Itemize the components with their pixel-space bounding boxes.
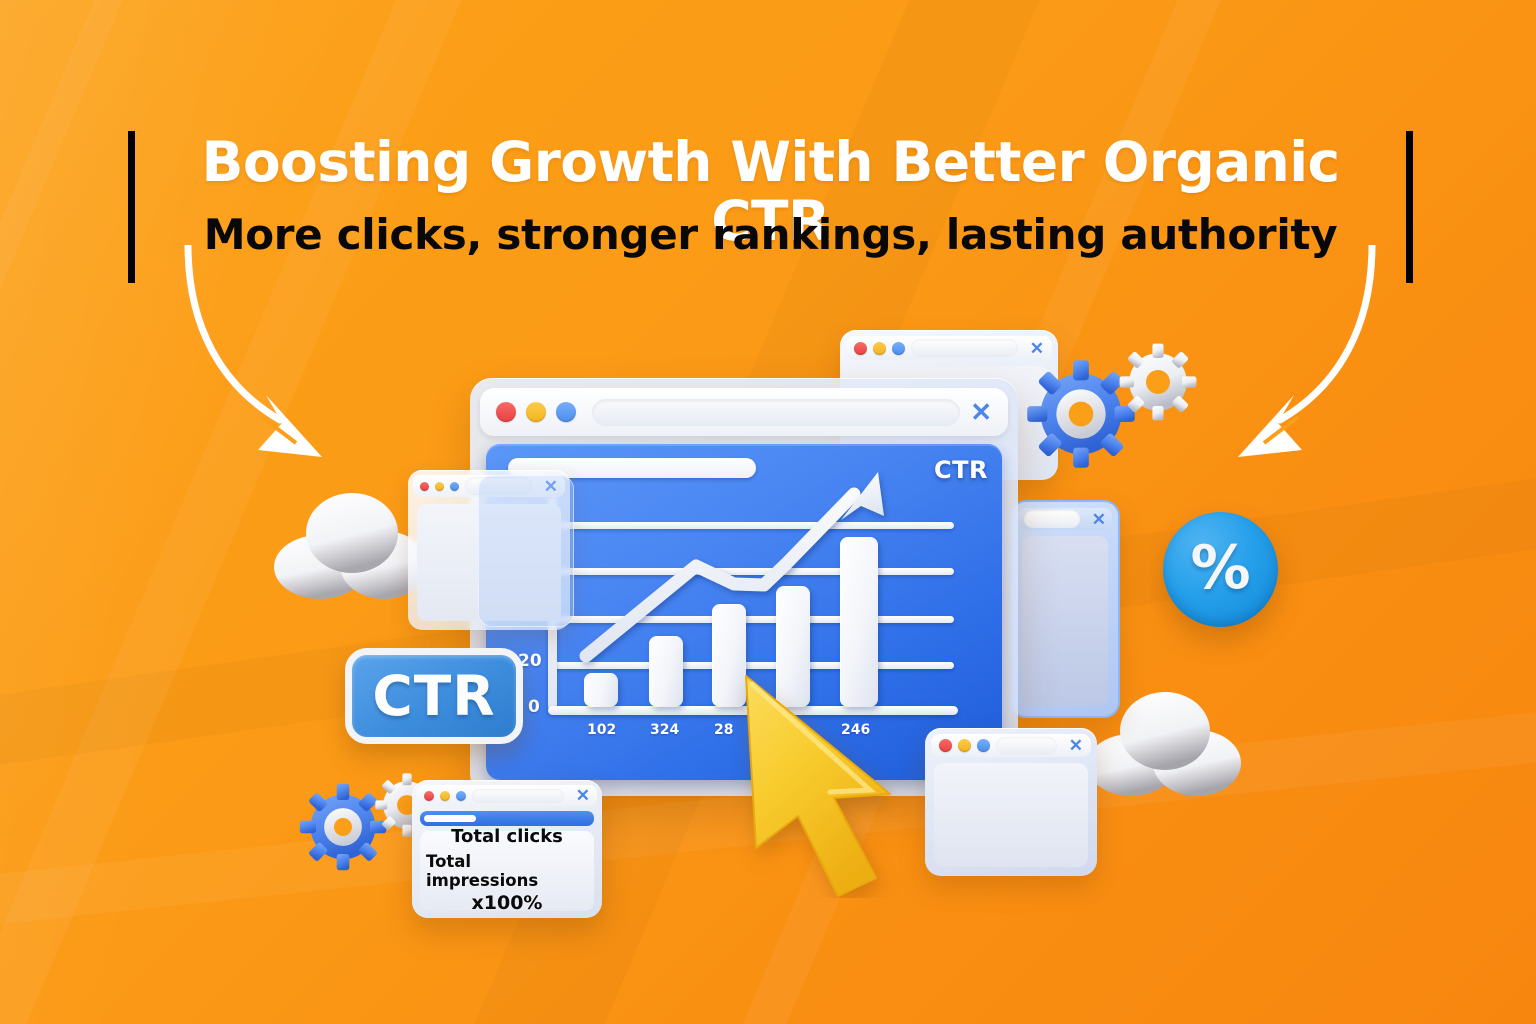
traffic-light-yellow-icon[interactable]	[958, 739, 971, 752]
percent-badge: %	[1163, 512, 1278, 627]
traffic-light-red-icon[interactable]	[420, 482, 429, 491]
window-titlebar: ✕	[1018, 508, 1112, 530]
window-titlebar: ✕	[846, 336, 1052, 360]
x-tick-label: 324	[650, 722, 679, 738]
headline-block: Boosting Growth With Better Organic CTR …	[128, 125, 1413, 285]
window-content	[417, 504, 561, 621]
headline-rule-left	[128, 131, 135, 283]
close-icon[interactable]: ✕	[538, 478, 558, 495]
window-content	[1022, 536, 1108, 706]
traffic-light-blue-icon[interactable]	[892, 342, 905, 355]
formula-toolbar	[420, 811, 594, 826]
traffic-light-yellow-icon[interactable]	[873, 342, 886, 355]
traffic-light-yellow-icon[interactable]	[526, 402, 546, 422]
traffic-light-blue-icon[interactable]	[977, 739, 990, 752]
window-titlebar: ✕	[931, 734, 1091, 757]
traffic-light-blue-icon[interactable]	[556, 402, 576, 422]
ctr-badge: CTR	[345, 648, 523, 744]
window-content	[934, 763, 1088, 867]
traffic-light-red-icon[interactable]	[496, 402, 516, 422]
traffic-light-blue-icon[interactable]	[456, 791, 466, 801]
page-subtitle: More clicks, stronger rankings, lasting …	[158, 210, 1383, 259]
percent-badge-label: %	[1190, 538, 1250, 598]
window-titlebar: ✕	[413, 475, 565, 497]
main-window-titlebar: ✕	[480, 388, 1008, 436]
formula-multiplier: x100%	[472, 893, 543, 914]
close-icon[interactable]: ✕	[970, 397, 992, 428]
formula-numerator: Total clicks	[451, 827, 563, 847]
traffic-light-red-icon[interactable]	[424, 791, 434, 801]
address-bar[interactable]	[1024, 510, 1080, 528]
traffic-light-yellow-icon[interactable]	[435, 482, 444, 491]
mouse-cursor-icon[interactable]	[730, 668, 910, 898]
formula-content: Total clicks Total impressions x100%	[420, 831, 594, 911]
traffic-light-blue-icon[interactable]	[450, 482, 459, 491]
x-tick-label: 102	[587, 722, 616, 738]
ctr-badge-label: CTR	[372, 664, 495, 728]
headline-rule-right	[1406, 131, 1413, 283]
traffic-light-red-icon[interactable]	[854, 342, 867, 355]
close-icon[interactable]: ✕	[1086, 511, 1106, 528]
window-titlebar: ✕	[417, 785, 597, 806]
close-icon[interactable]: ✕	[1024, 340, 1044, 357]
close-icon[interactable]: ✕	[1063, 737, 1083, 754]
formula-denominator: Total impressions	[426, 853, 588, 890]
gear-white-top-right-icon	[1118, 342, 1198, 422]
browser-window-glass-left[interactable]: ✕	[408, 470, 570, 630]
address-bar[interactable]	[911, 339, 1018, 357]
address-bar[interactable]	[996, 737, 1057, 755]
search-input[interactable]	[592, 399, 960, 426]
toolbar-pill	[424, 815, 476, 822]
browser-window-right[interactable]: ✕	[1010, 500, 1120, 718]
traffic-light-yellow-icon[interactable]	[440, 791, 450, 801]
close-icon[interactable]: ✕	[570, 787, 590, 804]
browser-window-formula[interactable]: ✕ Total clicks Total impressions x100%	[412, 780, 602, 918]
address-bar[interactable]	[465, 477, 532, 495]
address-bar[interactable]	[472, 789, 564, 803]
browser-window-bottom-right[interactable]: ✕	[925, 728, 1097, 876]
traffic-light-red-icon[interactable]	[939, 739, 952, 752]
